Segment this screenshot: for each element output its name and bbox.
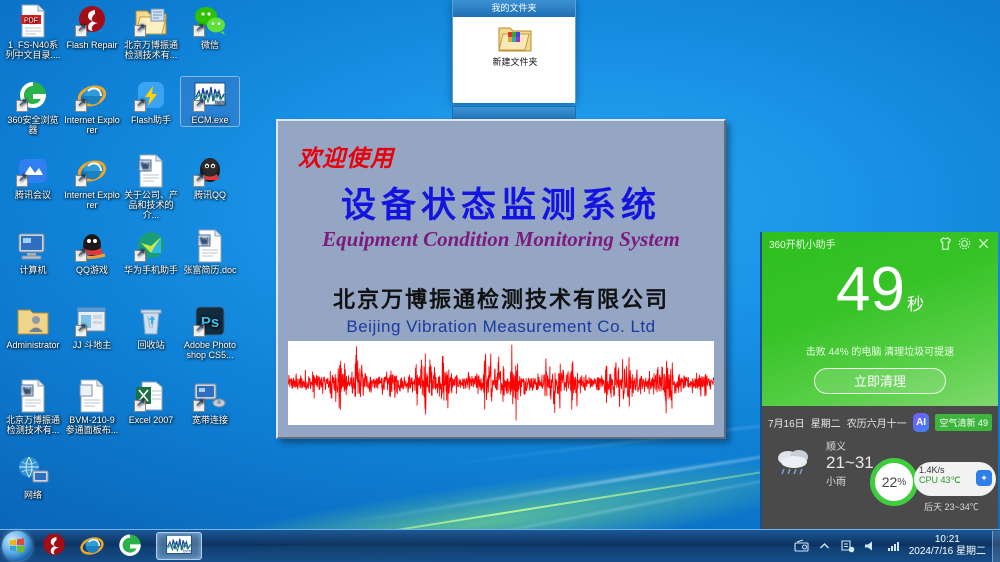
- ecm-icon: bvm: [165, 532, 193, 560]
- waveform-svg: [288, 341, 714, 425]
- desktop-icon[interactable]: 计算机: [4, 227, 62, 276]
- folder-icon: [498, 23, 532, 53]
- desktop-icon-label: 网络: [5, 490, 61, 500]
- userfolder-icon: [16, 304, 50, 338]
- shortcut-overlay-icon: [75, 175, 87, 187]
- air-quality-badge: 空气清新 49: [935, 414, 992, 431]
- desktop-icon-label: JJ 斗地主: [64, 340, 120, 350]
- assistant-widget[interactable]: 360开机小助手 49秒 击败 44% 的电脑 清理垃圾可提速 立即清理: [760, 232, 998, 406]
- flash-icon: [75, 4, 109, 38]
- desktop-icon-label: 1_FS-N40系列中文目录....: [5, 40, 61, 60]
- network-icon[interactable]: [886, 539, 901, 553]
- radio-icon[interactable]: [794, 539, 809, 553]
- explorer-body[interactable]: 新建文件夹: [453, 17, 575, 103]
- weather-detail-row: 顺义 21~31 小雨 22% 1.4K/s CPU 43℃ ✦ 后天 23~3…: [762, 432, 998, 488]
- svg-text:W: W: [200, 236, 209, 246]
- taskbar-item-ecm[interactable]: bvm: [156, 532, 202, 560]
- ie-icon: [75, 79, 109, 113]
- wechat-icon: [193, 4, 227, 38]
- weather-condition: 小雨: [826, 473, 874, 488]
- show-desktop-button[interactable]: [992, 531, 1000, 562]
- shortcut-overlay-icon: [75, 325, 87, 337]
- browser360-icon: [116, 532, 144, 560]
- desktop-icon[interactable]: 腾讯QQ: [181, 152, 239, 201]
- desktop-icon-label: 华为手机助手: [123, 265, 179, 275]
- shortcut-overlay-icon: [193, 400, 205, 412]
- weather-widget[interactable]: 7月16日 星期二 农历六月十一 AI 空气清新 49 顺义 21~31 小雨: [760, 406, 998, 530]
- desktop-icon-label: Internet Explorer: [64, 115, 120, 135]
- desktop-icon[interactable]: Excel 2007: [122, 377, 180, 426]
- pdf-icon: PDF: [16, 4, 50, 38]
- desktop-icon[interactable]: 华为手机助手: [122, 227, 180, 276]
- desktop-icon[interactable]: 网络: [4, 452, 62, 501]
- show-hidden-icons-icon[interactable]: [817, 539, 832, 553]
- desktop-icon-label: ECM.exe: [182, 115, 238, 125]
- desktop-icon-label: 微信: [182, 40, 238, 50]
- desktop-icon-label: Adobe Photoshop CS5...: [182, 340, 238, 360]
- network-icon: [16, 454, 50, 488]
- word-icon: W: [193, 229, 227, 263]
- doc-icon: [75, 379, 109, 413]
- desktop[interactable]: PDF1_FS-N40系列中文目录....Flash Repair北京万博振通检…: [0, 0, 1000, 562]
- svg-text:bvm: bvm: [215, 100, 224, 106]
- computer-icon: [16, 229, 50, 263]
- vibration-waveform-chart: [288, 341, 714, 425]
- desktop-icon-label: 张富简历.doc: [182, 265, 238, 275]
- qq-icon: [193, 154, 227, 188]
- taskbar-clock[interactable]: 10:21 2024/7/16 星期二: [909, 534, 986, 558]
- word-icon: W: [134, 154, 168, 188]
- desktop-icon[interactable]: PDF1_FS-N40系列中文目录....: [4, 2, 62, 61]
- desktop-icon[interactable]: bvmECM.exe: [181, 77, 239, 126]
- shortcut-overlay-icon: [193, 325, 205, 337]
- system-tray[interactable]: 10:21 2024/7/16 星期二: [794, 534, 992, 558]
- desktop-icon-label: 360安全浏览器: [5, 115, 61, 135]
- boost-icon[interactable]: ✦: [976, 470, 992, 486]
- weather-forecast: 后天 23~34℃: [924, 500, 979, 513]
- recycle-icon: [134, 304, 168, 338]
- desktop-icon-label: 回收站: [123, 340, 179, 350]
- desktop-icon-label: Administrator: [5, 340, 61, 350]
- assistant-header: 360开机小助手: [762, 232, 998, 254]
- network-status-pill[interactable]: 1.4K/s CPU 43℃ ✦: [914, 462, 996, 496]
- assistant-value: 49: [836, 255, 905, 324]
- excel-icon: [134, 379, 168, 413]
- assistant-title: 360开机小助手: [769, 236, 934, 251]
- shortcut-overlay-icon: [16, 175, 28, 187]
- weather-lunar: 农历六月十一: [847, 415, 907, 430]
- desktop-icon[interactable]: PsAdobe Photoshop CS5...: [181, 302, 239, 361]
- desktop-icon[interactable]: 回收站: [122, 302, 180, 351]
- shortcut-overlay-icon: [134, 100, 146, 112]
- desktop-icon-label: Flash Repair: [64, 40, 120, 50]
- desktop-icon-label: 腾讯会议: [5, 190, 61, 200]
- company-name-cn: 北京万博振通检测技术有限公司: [284, 282, 718, 314]
- ecm-icon: bvm: [193, 79, 227, 113]
- desktop-icon[interactable]: QQ游戏: [63, 227, 121, 276]
- weather-temp-range: 21~31: [826, 453, 874, 473]
- browser360-icon: [16, 79, 50, 113]
- taskbar[interactable]: bvm 10:21 2024/7/16 星期二: [0, 529, 1000, 562]
- ie-icon: [78, 532, 106, 560]
- desktop-icon-label: 北京万博振通检测技术有...: [5, 415, 61, 435]
- weather-date-row: 7月16日 星期二 农历六月十一 AI 空气清新 49: [762, 406, 998, 432]
- app-icon: [75, 304, 109, 338]
- weather-text: 顺义 21~31 小雨: [826, 438, 874, 488]
- desktop-icon[interactable]: Administrator: [4, 302, 62, 351]
- desktop-icon[interactable]: 360安全浏览器: [4, 77, 62, 136]
- shortcut-overlay-icon: [193, 175, 205, 187]
- taskbar-items: bvm: [32, 532, 202, 560]
- cpu-usage-value: 22: [882, 474, 898, 490]
- folder-label: 新建文件夹: [467, 55, 563, 68]
- desktop-icon[interactable]: Flash助手: [122, 77, 180, 126]
- shortcut-overlay-icon: [134, 250, 146, 262]
- shirt-icon[interactable]: [938, 236, 953, 251]
- desktop-icon[interactable]: W张富简历.doc: [181, 227, 239, 276]
- desktop-icon[interactable]: W北京万博振通检测技术有...: [4, 377, 62, 436]
- cpu-usage-ring[interactable]: 22%: [870, 458, 918, 506]
- shortcut-overlay-icon: [75, 25, 87, 37]
- shortcut-overlay-icon: [134, 25, 146, 37]
- desktop-icon-label: 关于公司、产品和技术的介...: [123, 190, 179, 220]
- app-title-en: Equipment Condition Monitoring System: [284, 227, 718, 252]
- svg-text:W: W: [23, 386, 32, 396]
- flash-icon: [40, 532, 68, 560]
- close-icon[interactable]: [976, 236, 991, 251]
- desktop-icon[interactable]: W关于公司、产品和技术的介...: [122, 152, 180, 221]
- flashhelper-icon: [134, 79, 168, 113]
- desktop-icon[interactable]: 腾讯会议: [4, 152, 62, 201]
- folder-shortcut-icon: [134, 4, 168, 38]
- shortcut-overlay-icon: [75, 250, 87, 262]
- photoshop-icon: Ps: [193, 304, 227, 338]
- gear-icon[interactable]: [957, 236, 972, 251]
- desktop-icon[interactable]: Internet Explorer: [63, 152, 121, 211]
- rain-cloud-icon: [772, 444, 818, 478]
- desktop-icon-label: 北京万博振通检测技术有...: [123, 40, 179, 60]
- taskbar-item-browser360[interactable]: [114, 532, 146, 560]
- ie-icon: [75, 154, 109, 188]
- folder-item[interactable]: 新建文件夹: [467, 23, 563, 68]
- desktop-icon-label: 宽带连接: [182, 415, 238, 425]
- shortcut-overlay-icon: [16, 100, 28, 112]
- desktop-icon[interactable]: 宽带连接: [181, 377, 239, 426]
- desktop-icon-label: Flash助手: [123, 115, 179, 125]
- desktop-icon-label: BVM-210-9 参通面板布...: [64, 415, 120, 435]
- ecm-splash-window[interactable]: 欢迎使用 设备状态监测系统 Equipment Condition Monito…: [276, 119, 726, 439]
- svg-text:bvm: bvm: [183, 549, 191, 554]
- svg-text:PDF: PDF: [24, 17, 38, 24]
- cpu-usage-unit: %: [897, 477, 906, 488]
- desktop-icon[interactable]: Flash Repair: [63, 2, 121, 51]
- shortcut-overlay-icon: [75, 100, 87, 112]
- desktop-icon-label: 计算机: [5, 265, 61, 275]
- clean-now-button[interactable]: 立即清理: [814, 368, 946, 394]
- taskbar-item-ie[interactable]: [76, 532, 108, 560]
- desktop-icon[interactable]: BVM-210-9 参通面板布...: [63, 377, 121, 436]
- explorer-window[interactable]: 我的文件夹 新建文件夹: [452, 0, 576, 102]
- desktop-icon[interactable]: 微信: [181, 2, 239, 51]
- company-name-en: Beijing Vibration Measurement Co. Ltd: [284, 317, 718, 337]
- meeting-icon: [16, 154, 50, 188]
- welcome-text: 欢迎使用: [298, 139, 394, 173]
- ai-badge[interactable]: AI: [913, 413, 930, 432]
- assistant-boot-seconds: 49秒: [762, 260, 998, 335]
- explorer-title: 我的文件夹: [453, 0, 575, 17]
- desktop-icon[interactable]: JJ 斗地主: [63, 302, 121, 351]
- desktop-icon[interactable]: 北京万博振通检测技术有...: [122, 2, 180, 61]
- huawei-icon: [134, 229, 168, 263]
- desktop-icon[interactable]: Internet Explorer: [63, 77, 121, 136]
- assistant-unit: 秒: [907, 295, 924, 314]
- volume-icon[interactable]: [863, 539, 878, 553]
- word-icon: W: [16, 379, 50, 413]
- broadband-icon: [193, 379, 227, 413]
- qqgame-icon: [75, 229, 109, 263]
- desktop-icon-label: 腾讯QQ: [182, 190, 238, 200]
- weather-date: 7月16日: [768, 415, 805, 430]
- weather-location: 顺义: [826, 438, 874, 453]
- weather-weekday: 星期二: [811, 415, 841, 430]
- assistant-description: 击败 44% 的电脑 清理垃圾可提速: [762, 343, 998, 358]
- shortcut-overlay-icon: [193, 100, 205, 112]
- clock-date: 2024/7/16 星期二: [909, 546, 986, 558]
- action-center-icon[interactable]: [840, 539, 855, 553]
- desktop-icon-label: QQ游戏: [64, 265, 120, 275]
- taskbar-item-flash[interactable]: [38, 532, 70, 560]
- app-title-cn: 设备状态监测系统: [284, 177, 718, 228]
- start-button[interactable]: [2, 531, 32, 561]
- clock-time: 10:21: [909, 534, 986, 546]
- desktop-icon-label: Excel 2007: [123, 415, 179, 425]
- desktop-icon-label: Internet Explorer: [64, 190, 120, 210]
- shortcut-overlay-icon: [134, 400, 146, 412]
- svg-text:W: W: [141, 161, 150, 171]
- shortcut-overlay-icon: [193, 25, 205, 37]
